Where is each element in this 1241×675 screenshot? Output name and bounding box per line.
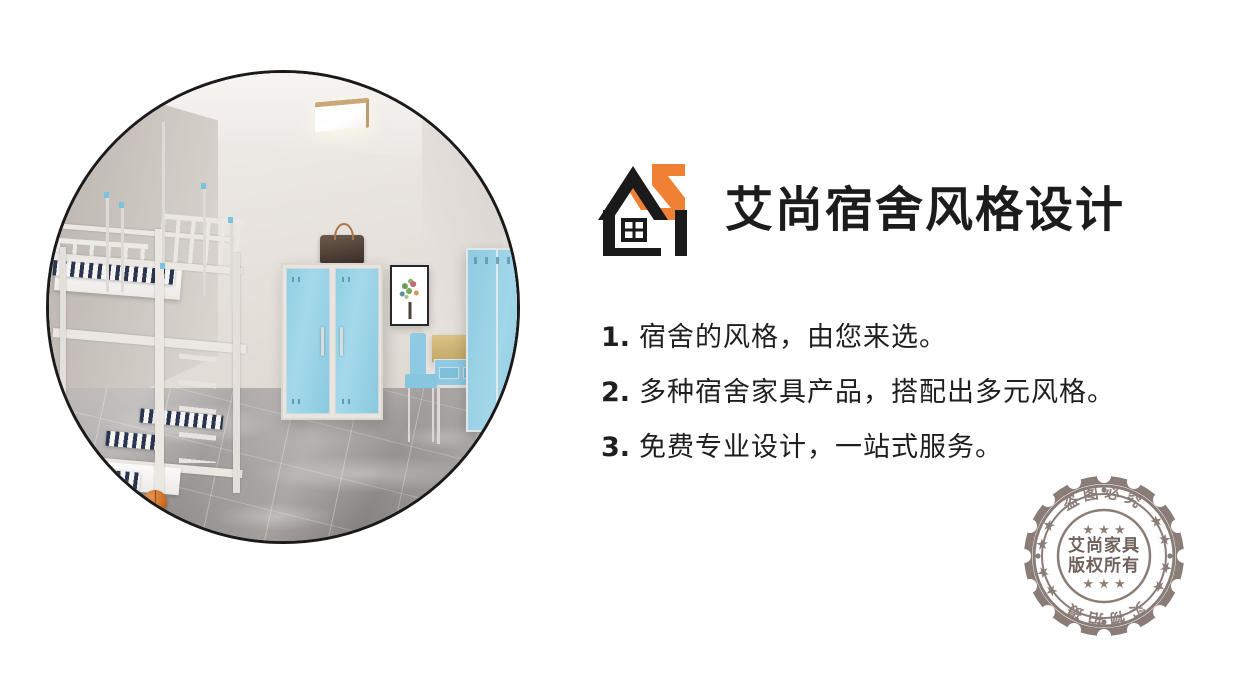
curtain-pole-cap-4 [201,183,206,189]
list-item-text: 宿舍的风格，由您来选。 [639,322,947,355]
chair-seat [405,374,437,389]
svg-text:★ ★ ★: ★ ★ ★ [1082,577,1125,592]
list-item-text: 多种宿舍家具产品，搭配出多元风格。 [639,377,1115,410]
locker-handle-right [340,327,343,356]
locker-door-left [286,268,330,414]
brand-header: 艾尚宿舍风格设计 [597,158,1125,262]
travel-bag [320,235,364,264]
list-item-number: 1. [601,322,630,355]
list-item: 3. 免费专业设计，一站式服务。 [601,432,1221,465]
list-item-text: 免费专业设计，一站式服务。 [639,432,1003,465]
lower-striped-bedding-b [106,430,161,450]
curtain-pole-5 [230,219,233,311]
bunk-bed [53,205,296,505]
logo-pillar [675,210,687,256]
basketball [143,490,167,514]
locker-vent-bottom-right [342,399,353,405]
curtain-pole-cap-1 [104,192,109,198]
desk-leg-left [437,386,440,444]
list-item: 1. 宿舍的风格，由您来选。 [601,322,1221,355]
right-blue-locker [466,248,520,432]
list-item-number: 2. [601,377,630,410]
curtain-pole-4 [203,185,206,296]
curtain-pole-cap-5 [228,217,233,223]
seal-icon: ★★ 盗图必究 ★★ ★★ 实物拍摄 ★★ ★ ★ ★ ★ ★ ★ [1018,470,1190,642]
ceiling-light-icon [315,98,369,133]
curtain-pole-cap-2 [119,202,124,208]
copyright-seal: ★★ 盗图必究 ★★ ★★ 实物拍摄 ★★ ★ ★ ★ ★ ★ ★ 艾尚家具 版… [1018,470,1190,642]
locker-vent-bottom-left [292,399,303,405]
promo-banner: 艾尚宿舍风格设计 1. 宿舍的风格，由您来选。 2. 多种宿舍家具产品，搭配出多… [0,0,1241,675]
mid-frame-bar [52,328,246,354]
chair-leg-right [432,388,435,441]
bed-ladder [179,337,215,463]
bed-post-rear [233,253,240,493]
curtain-pole-3 [162,122,165,267]
feature-list: 1. 宿舍的风格，由您来选。 2. 多种宿舍家具产品，搭配出多元风格。 3. 免… [601,322,1221,487]
list-item: 2. 多种宿舍家具产品，搭配出多元风格。 [601,377,1221,410]
chair-backrest [410,333,427,377]
bed-post-left [60,247,66,433]
blue-locker-cabinet [281,263,383,420]
right-blue-chair [495,422,519,470]
dormitory-room-photo [46,70,520,544]
locker-vent-top-right [342,277,353,283]
house-logo-icon [597,158,701,262]
curtain-pole-1 [106,195,109,292]
locker-handle-left [321,327,324,356]
svg-text:★ ★ ★: ★ ★ ★ [1082,523,1125,538]
list-item-number: 3. [601,432,630,465]
locker-vent-top-left [292,277,303,283]
chair-leg-left [408,388,411,441]
locker-door-right [335,268,379,414]
room-scene [46,70,520,544]
right-locker-vent [474,257,520,264]
page-title: 艾尚宿舍风格设计 [725,186,1125,234]
curtain-pole-cap-3 [160,263,165,269]
bed-post-front [155,229,164,505]
framed-tree-artwork [390,265,429,326]
curtain-pole-2 [121,205,124,292]
